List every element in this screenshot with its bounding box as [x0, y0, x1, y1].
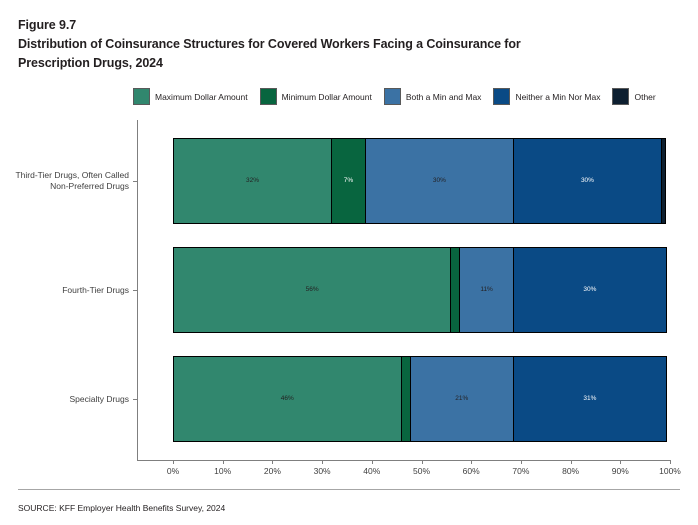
x-axis-tick-mark	[322, 460, 323, 464]
stacked-bar-row: 56%11%30%	[173, 247, 670, 333]
legend-item[interactable]: Other	[612, 88, 655, 105]
bar-segment[interactable]: 30%	[513, 138, 662, 224]
figure-number: Figure 9.7	[18, 16, 678, 35]
bar-segment-value-label: 11%	[480, 286, 493, 294]
x-axis-tick-label: 50%	[413, 466, 430, 476]
figure-title-line-2: Prescription Drugs, 2024	[18, 54, 678, 73]
y-axis-category-label: Fourth-Tier Drugs	[0, 285, 129, 296]
bar-segment[interactable]	[661, 138, 666, 224]
bar-segment[interactable]: 46%	[173, 356, 402, 442]
x-axis-tick-mark	[521, 460, 522, 464]
stacked-bar-row: 46%21%31%	[173, 356, 670, 442]
legend-item-label: Minimum Dollar Amount	[282, 92, 372, 102]
x-axis-tick-mark	[173, 460, 174, 464]
bar-segment[interactable]: 30%	[513, 247, 667, 333]
y-axis-category-label: Specialty Drugs	[0, 394, 129, 405]
x-axis-tick-label: 20%	[264, 466, 281, 476]
x-axis-tick-mark	[422, 460, 423, 464]
x-axis-tick-label: 40%	[363, 466, 380, 476]
chart-legend: Maximum Dollar AmountMinimum Dollar Amou…	[133, 88, 656, 105]
bar-segment[interactable]: 32%	[173, 138, 332, 224]
bar-segment[interactable]: 56%	[173, 247, 451, 333]
y-axis-tick-mark	[133, 181, 137, 182]
x-axis-tick-label: 30%	[314, 466, 331, 476]
chart-plot-area: 32%7%30%30%56%11%30%46%21%31% Third-Tier…	[137, 120, 670, 460]
x-axis-ticks: 0%10%20%30%40%50%60%70%80%90%100%	[137, 460, 670, 486]
bar-segment[interactable]: 7%	[331, 138, 366, 224]
legend-item-label: Neither a Min Nor Max	[515, 92, 600, 102]
legend-item[interactable]: Minimum Dollar Amount	[260, 88, 372, 105]
y-axis-tick-mark	[133, 399, 137, 400]
legend-item[interactable]: Both a Min and Max	[384, 88, 482, 105]
x-axis-tick-mark	[272, 460, 273, 464]
y-axis-line	[137, 120, 138, 460]
x-axis-tick-mark	[620, 460, 621, 464]
legend-swatch-icon	[493, 88, 510, 105]
legend-item-label: Other	[634, 92, 655, 102]
x-axis-tick-label: 0%	[167, 466, 179, 476]
y-axis-tick-mark	[133, 290, 137, 291]
legend-item[interactable]: Neither a Min Nor Max	[493, 88, 600, 105]
bar-segment-value-label: 56%	[306, 286, 319, 294]
bar-segment-value-label: 30%	[583, 286, 596, 294]
bar-segment-value-label: 30%	[581, 177, 594, 185]
x-axis-tick-label: 80%	[562, 466, 579, 476]
bar-segment[interactable]: 21%	[410, 356, 514, 442]
bar-segment-value-label: 21%	[455, 395, 468, 403]
figure-header: Figure 9.7 Distribution of Coinsurance S…	[18, 16, 678, 73]
x-axis-tick-mark	[372, 460, 373, 464]
bar-segment-value-label: 31%	[583, 395, 596, 403]
legend-swatch-icon	[133, 88, 150, 105]
x-axis-tick-label: 10%	[214, 466, 231, 476]
legend-item[interactable]: Maximum Dollar Amount	[133, 88, 248, 105]
legend-swatch-icon	[612, 88, 629, 105]
bar-segment-value-label: 7%	[344, 177, 353, 185]
x-axis-tick-mark	[223, 460, 224, 464]
legend-item-label: Maximum Dollar Amount	[155, 92, 248, 102]
bar-segment[interactable]: 30%	[365, 138, 514, 224]
y-axis-category-label-line: Fourth-Tier Drugs	[0, 285, 129, 296]
x-axis-tick-mark	[670, 460, 671, 464]
bar-segment-value-label: 46%	[281, 395, 294, 403]
x-axis-tick-mark	[571, 460, 572, 464]
x-axis-tick-label: 90%	[612, 466, 629, 476]
x-axis-tick-mark	[471, 460, 472, 464]
x-axis-tick-label: 60%	[463, 466, 480, 476]
bar-segment-value-label: 32%	[246, 177, 259, 185]
footer-divider	[18, 489, 680, 490]
figure-title-line-1: Distribution of Coinsurance Structures f…	[18, 35, 678, 54]
source-note: SOURCE: KFF Employer Health Benefits Sur…	[18, 503, 225, 513]
y-axis-category-label: Third-Tier Drugs, Often CalledNon-Prefer…	[0, 170, 129, 192]
bar-segment[interactable]: 31%	[513, 356, 667, 442]
y-axis-category-label-line: Third-Tier Drugs, Often Called	[0, 170, 129, 181]
y-axis-category-label-line: Non-Preferred Drugs	[0, 181, 129, 192]
y-axis-category-label-line: Specialty Drugs	[0, 394, 129, 405]
x-axis-tick-label: 100%	[659, 466, 681, 476]
legend-swatch-icon	[260, 88, 277, 105]
x-axis-tick-label: 70%	[512, 466, 529, 476]
stacked-bar-row: 32%7%30%30%	[173, 138, 670, 224]
bar-segment[interactable]: 11%	[459, 247, 514, 333]
bar-segment-value-label: 30%	[433, 177, 446, 185]
legend-swatch-icon	[384, 88, 401, 105]
legend-item-label: Both a Min and Max	[406, 92, 482, 102]
